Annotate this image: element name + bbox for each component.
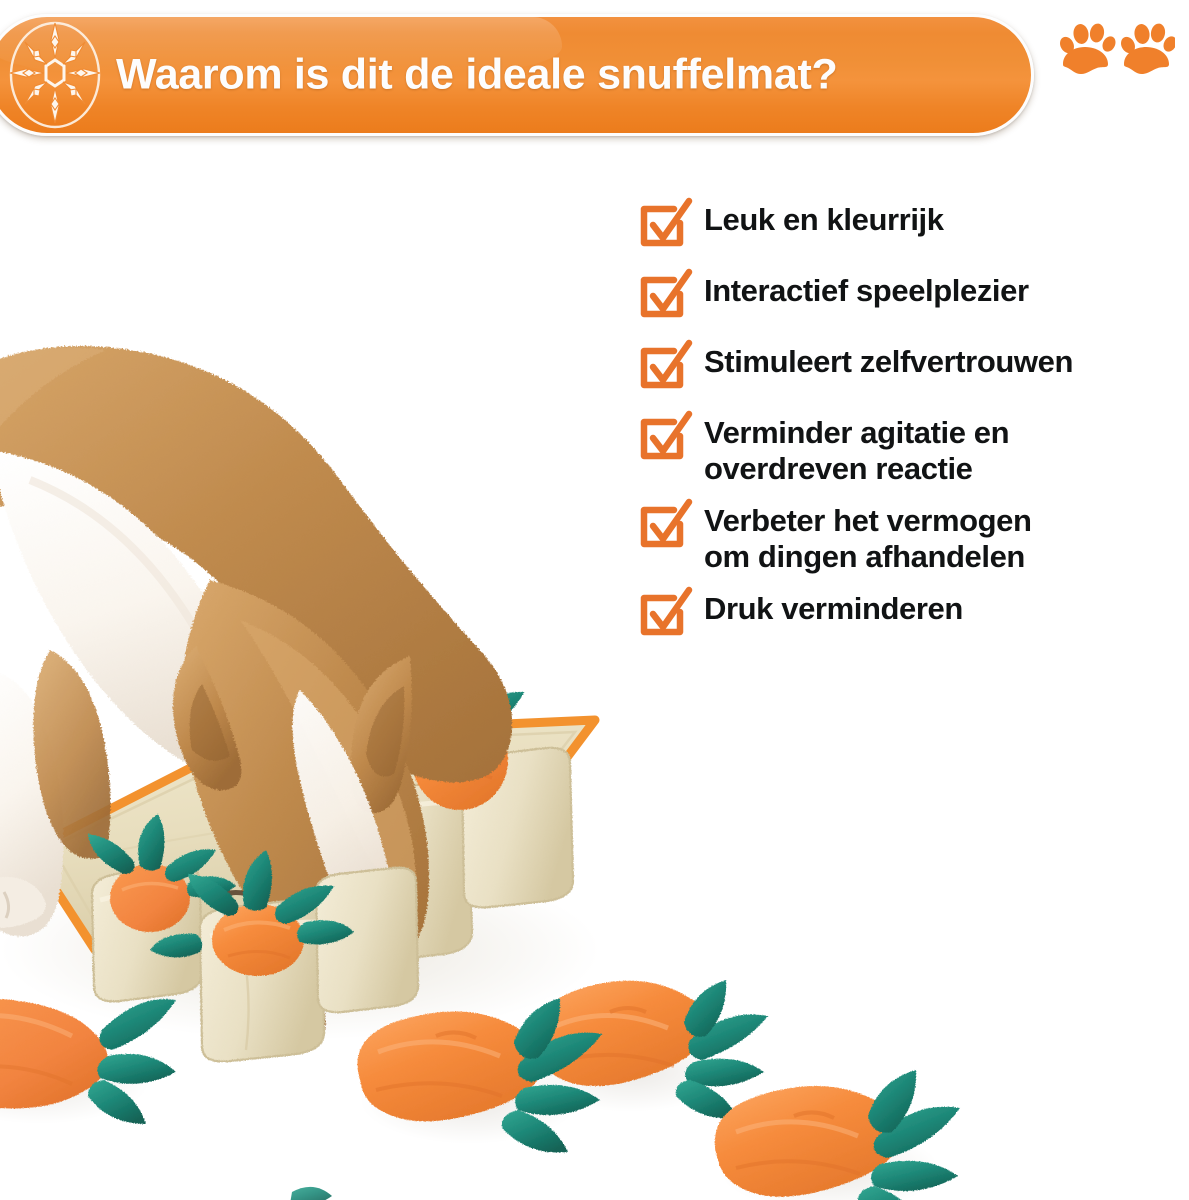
- page-title: Waarom is dit de ideale snuffelmat?: [116, 51, 837, 100]
- starburst-medallion-icon: [3, 18, 107, 132]
- checklist-item-label: Interactief speelplezier: [704, 267, 1029, 309]
- benefits-checklist: Leuk en kleurrijk Interactief speelplezi…: [636, 196, 1189, 652]
- checklist-item-2: Stimuleert zelfvertrouwen: [636, 338, 1189, 395]
- checklist-item-0: Leuk en kleurrijk: [636, 196, 1189, 253]
- checklist-item-1: Interactief speelplezier: [636, 267, 1189, 324]
- checkbox-checked-icon: [636, 586, 694, 642]
- checklist-item-label: Verminder agitatie en overdreven reactie: [704, 409, 1009, 487]
- checkbox-checked-icon: [636, 197, 694, 253]
- checklist-item-3: Verminder agitatie en overdreven reactie: [636, 409, 1189, 487]
- checklist-item-4: Verbeter het vermogen om dingen afhandel…: [636, 497, 1189, 575]
- paw-print-icon: [1053, 20, 1175, 82]
- checkbox-checked-icon: [636, 339, 694, 395]
- checklist-item-label: Stimuleert zelfvertrouwen: [704, 338, 1073, 380]
- checklist-item-5: Druk verminderen: [636, 585, 1189, 642]
- checklist-item-label: Druk verminderen: [704, 585, 963, 627]
- checkbox-checked-icon: [636, 410, 694, 466]
- checkbox-checked-icon: [636, 498, 694, 554]
- checklist-item-label: Leuk en kleurrijk: [704, 196, 944, 238]
- checkbox-checked-icon: [636, 268, 694, 324]
- header-banner: Waarom is dit de ideale snuffelmat?: [0, 14, 1034, 136]
- checklist-item-label: Verbeter het vermogen om dingen afhandel…: [704, 497, 1032, 575]
